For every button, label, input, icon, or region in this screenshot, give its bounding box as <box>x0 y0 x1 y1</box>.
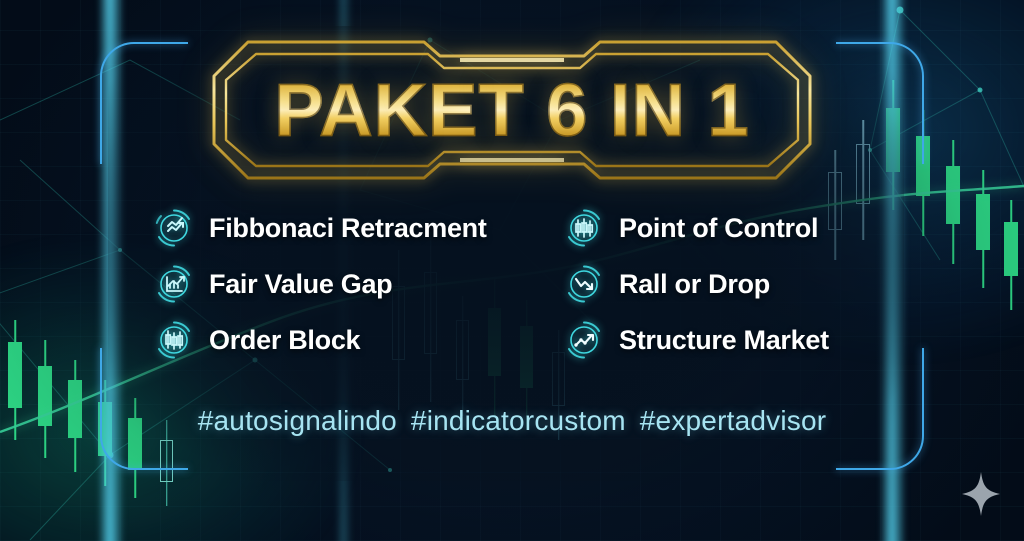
trend-wave-icon <box>152 206 196 250</box>
feature-label: Point of Control <box>619 213 818 244</box>
title-block: PAKET 6 IN 1 <box>208 36 816 184</box>
feature-row: Fibbonaci Retracment Point o <box>152 200 912 256</box>
hashtag-line: #autosignalindo#indicatorcustom#expertad… <box>0 405 1024 437</box>
trend-down-icon <box>562 262 606 306</box>
corner-bracket-top-right <box>836 42 924 164</box>
promo-banner: PAKET 6 IN 1 Fibbonaci Retracment <box>0 0 1024 541</box>
feature-label: Rall or Drop <box>619 269 770 300</box>
candlestick-icon <box>152 318 196 362</box>
hashtag[interactable]: #expertadvisor <box>640 405 826 436</box>
feature-list: Fibbonaci Retracment Point o <box>152 200 912 368</box>
feature-row: Order Block Structure Market <box>152 312 912 368</box>
hashtag[interactable]: #indicatorcustom <box>411 405 626 436</box>
feature-item-order-block[interactable]: Order Block <box>152 318 562 362</box>
feature-row: Fair Value Gap Rall or Drop <box>152 256 912 312</box>
page-title: PAKET 6 IN 1 <box>208 68 816 153</box>
trend-up-icon <box>562 318 606 362</box>
feature-label: Structure Market <box>619 325 829 356</box>
bar-chart-icon <box>152 262 196 306</box>
feature-label: Fair Value Gap <box>209 269 392 300</box>
sparkle-icon <box>960 470 1002 518</box>
feature-item-rall-or-drop[interactable]: Rall or Drop <box>562 262 902 306</box>
hashtag[interactable]: #autosignalindo <box>198 405 397 436</box>
feature-label: Fibbonaci Retracment <box>209 213 487 244</box>
feature-item-fibbonaci-retracment[interactable]: Fibbonaci Retracment <box>152 206 562 250</box>
feature-item-fair-value-gap[interactable]: Fair Value Gap <box>152 262 562 306</box>
feature-item-point-of-control[interactable]: Point of Control <box>562 206 902 250</box>
feature-label: Order Block <box>209 325 360 356</box>
point-of-control-icon <box>562 206 606 250</box>
feature-item-structure-market[interactable]: Structure Market <box>562 318 902 362</box>
corner-bracket-top-left <box>100 42 188 164</box>
